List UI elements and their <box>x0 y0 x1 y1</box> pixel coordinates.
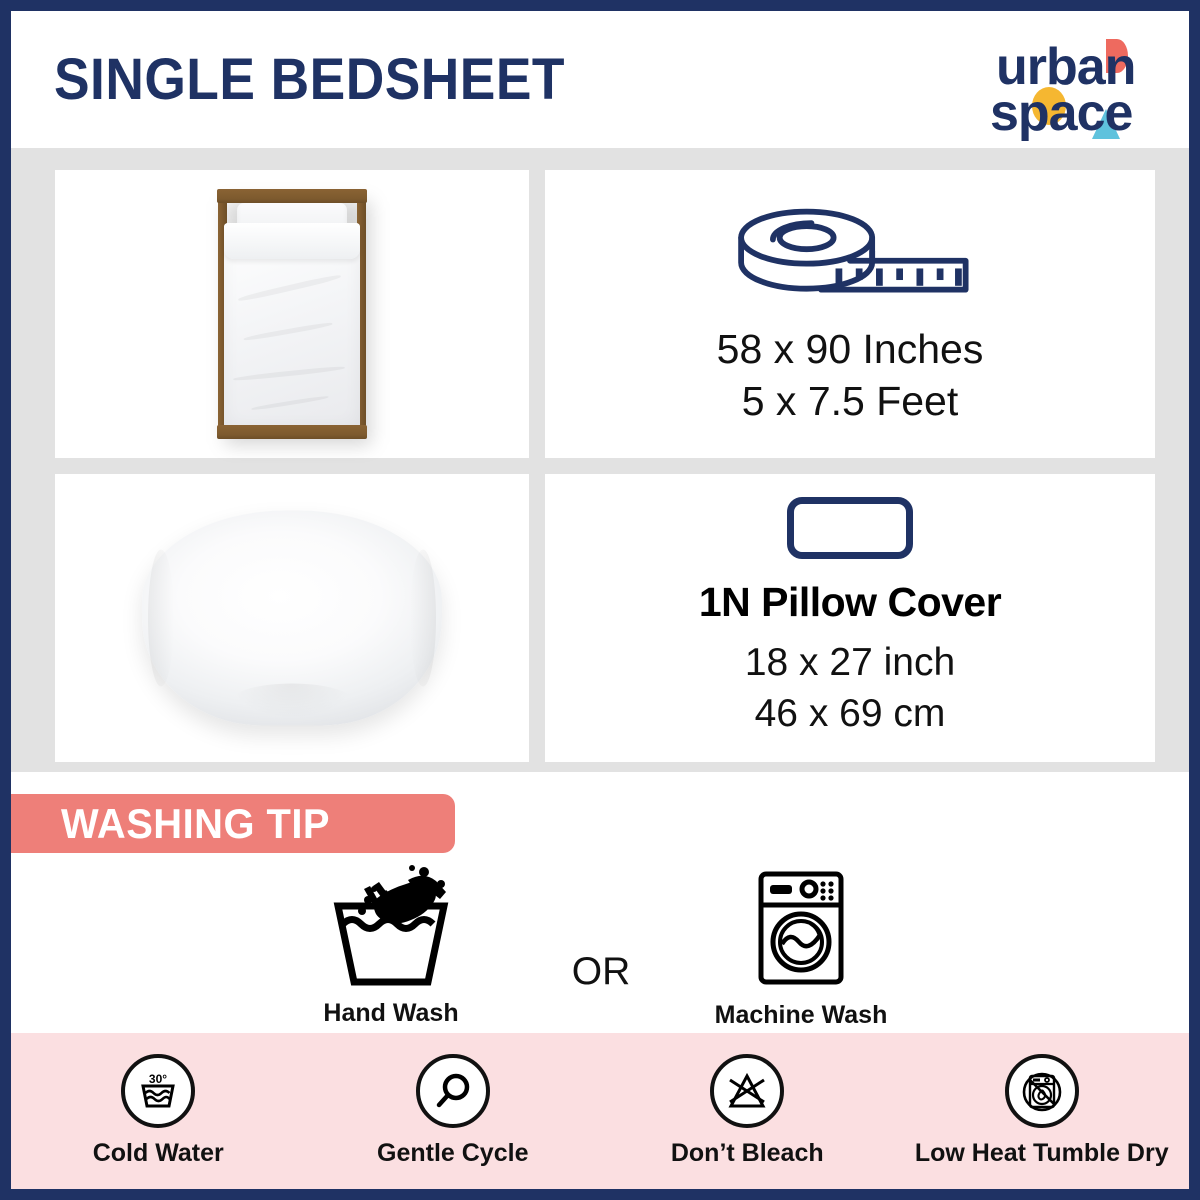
washing-separator: OR <box>559 950 643 994</box>
infographic-page: SINGLE BEDSHEET urban space <box>0 0 1200 1200</box>
logo-text-space: space <box>990 87 1132 139</box>
gentle-cycle-icon <box>431 1069 475 1113</box>
single-bed-illustration <box>217 189 367 439</box>
brand-logo: urban space <box>984 35 1164 143</box>
infographic-inner: SINGLE BEDSHEET urban space <box>11 11 1189 1189</box>
do-not-bleach-icon <box>723 1069 771 1113</box>
pillow-illustration <box>142 511 442 726</box>
care-item-cold-water: 30° Cold Water <box>11 1054 306 1168</box>
pillow-cover-size-inch: 18 x 27 inch <box>745 638 955 689</box>
cold-water-temperature: 30° <box>149 1072 167 1086</box>
machine-wash-label: Machine Wash <box>671 1001 931 1030</box>
care-item-low-heat-tumble-dry: Low Heat Tumble Dry <box>895 1054 1190 1168</box>
hand-wash-label: Hand Wash <box>261 999 521 1028</box>
machine-wash-icon <box>737 868 865 992</box>
bedsheet-size-inches: 58 x 90 Inches <box>717 323 984 375</box>
pillow-image-cell <box>55 474 529 762</box>
hand-wash-icon <box>316 862 466 990</box>
page-title: SINGLE BEDSHEET <box>54 51 565 109</box>
pillow-cover-cell: 1N Pillow Cover 18 x 27 inch 46 x 69 cm <box>545 474 1155 762</box>
pillow-cover-title: 1N Pillow Cover <box>699 579 1001 626</box>
machine-wash-method: Machine Wash <box>671 868 931 1030</box>
hand-wash-method: Hand Wash <box>261 862 521 1028</box>
bedsheet-size-feet: 5 x 7.5 Feet <box>742 375 959 427</box>
washing-tip-section: WASHING TIP <box>11 772 1189 1033</box>
care-label-gentle-cycle: Gentle Cycle <box>377 1139 528 1168</box>
care-item-gentle-cycle: Gentle Cycle <box>306 1054 601 1168</box>
care-label-cold-water: Cold Water <box>93 1139 224 1168</box>
pillow-cover-size-cm: 46 x 69 cm <box>755 689 946 740</box>
care-label-low-heat-tumble-dry: Low Heat Tumble Dry <box>915 1139 1169 1168</box>
low-heat-tumble-dry-icon <box>1018 1067 1066 1115</box>
bedsheet-dimensions-cell: 58 x 90 Inches 5 x 7.5 Feet <box>545 170 1155 458</box>
care-item-dont-bleach: Don’t Bleach <box>600 1054 895 1168</box>
cold-water-icon: 30° <box>135 1070 181 1112</box>
washing-tip-banner-label: WASHING TIP <box>61 800 330 848</box>
washing-tip-banner: WASHING TIP <box>11 794 455 853</box>
header: SINGLE BEDSHEET urban space <box>11 11 1189 148</box>
spec-grid: 58 x 90 Inches 5 x 7.5 Feet 1N Pillow Co… <box>11 148 1189 772</box>
bed-image-cell <box>55 170 529 458</box>
pillow-cover-outline-icon <box>787 497 913 559</box>
care-label-dont-bleach: Don’t Bleach <box>671 1139 824 1168</box>
care-instructions-footer: 30° Cold Water Gentle Cycle <box>11 1033 1189 1189</box>
measuring-tape-icon <box>714 201 986 307</box>
